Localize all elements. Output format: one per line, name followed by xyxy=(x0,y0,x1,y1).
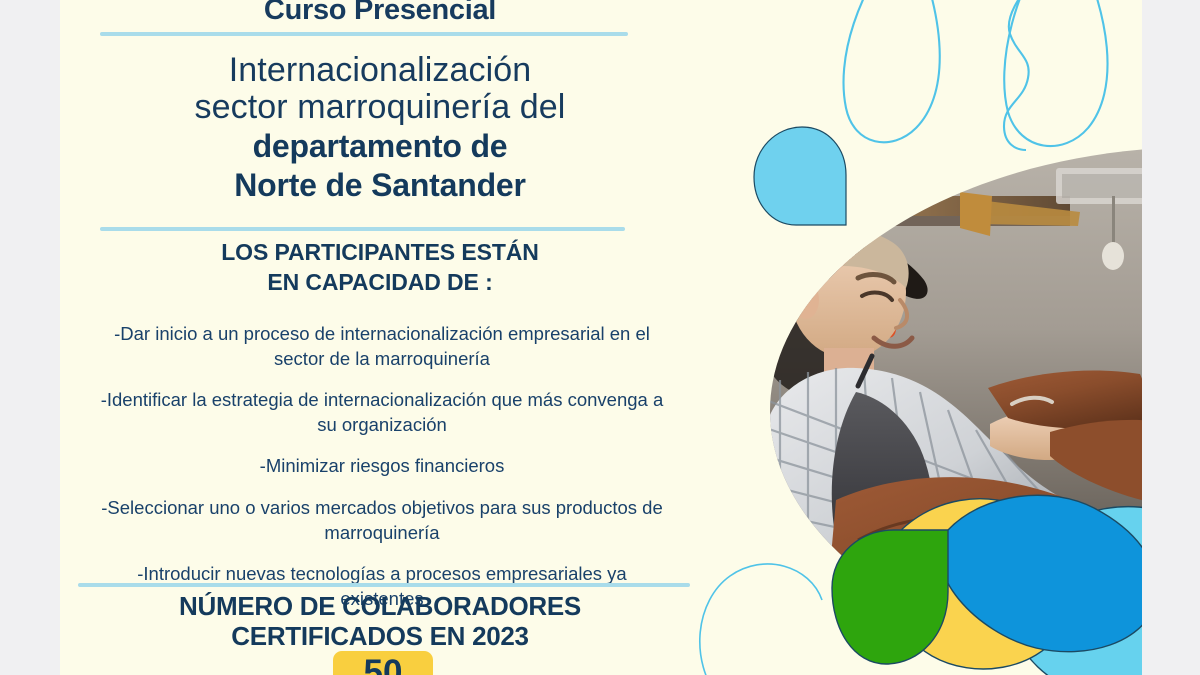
section-heading: LOS PARTICIPANTES ESTÁN EN CAPACIDAD DE … xyxy=(80,237,680,298)
poster-canvas: Curso Presencial Internacionalización se… xyxy=(0,0,1200,675)
title-bold-line-1: departamento de xyxy=(80,129,680,164)
footer-heading-line-1: NÚMERO DE COLABORADORES xyxy=(80,592,680,622)
graphic-column xyxy=(660,0,1142,675)
title-block: Internacionalización sector marroquinerí… xyxy=(80,52,680,203)
section-heading-line-2: EN CAPACIDAD DE : xyxy=(80,267,680,297)
kicker-label: Curso Presencial xyxy=(60,0,700,27)
list-item: -Dar inicio a un proceso de internaciona… xyxy=(82,322,682,371)
line-art-teardrop-right xyxy=(1004,0,1107,146)
list-item: -Identificar la estrategia de internacio… xyxy=(82,388,682,437)
divider-middle xyxy=(100,227,625,231)
line-art-teardrop-left xyxy=(844,0,940,142)
solid-cyan-teardrop xyxy=(754,127,846,225)
list-item: -Seleccionar uno o varios mercados objet… xyxy=(82,496,682,545)
list-item: -Minimizar riesgos financieros xyxy=(82,454,682,479)
title-bold-line-2: Norte de Santander xyxy=(80,168,680,203)
divider-top xyxy=(100,32,628,36)
section-heading-line-1: LOS PARTICIPANTES ESTÁN xyxy=(80,237,680,267)
poster-page: Curso Presencial Internacionalización se… xyxy=(60,0,1142,675)
divider-bottom xyxy=(78,583,690,587)
text-column: Curso Presencial Internacionalización se… xyxy=(60,0,700,675)
certified-count-badge: 50 xyxy=(333,651,433,675)
line-art-squiggle xyxy=(1004,0,1046,150)
title-line-2: sector marroquinería del xyxy=(80,89,680,126)
footer-heading: NÚMERO DE COLABORADORES CERTIFICADOS EN … xyxy=(80,592,680,652)
title-line-1: Internacionalización xyxy=(80,52,680,89)
decorative-graphics xyxy=(660,0,1142,675)
line-art-teardrop-bottom xyxy=(700,564,822,675)
footer-heading-line-2: CERTIFICADOS EN 2023 xyxy=(80,622,680,652)
